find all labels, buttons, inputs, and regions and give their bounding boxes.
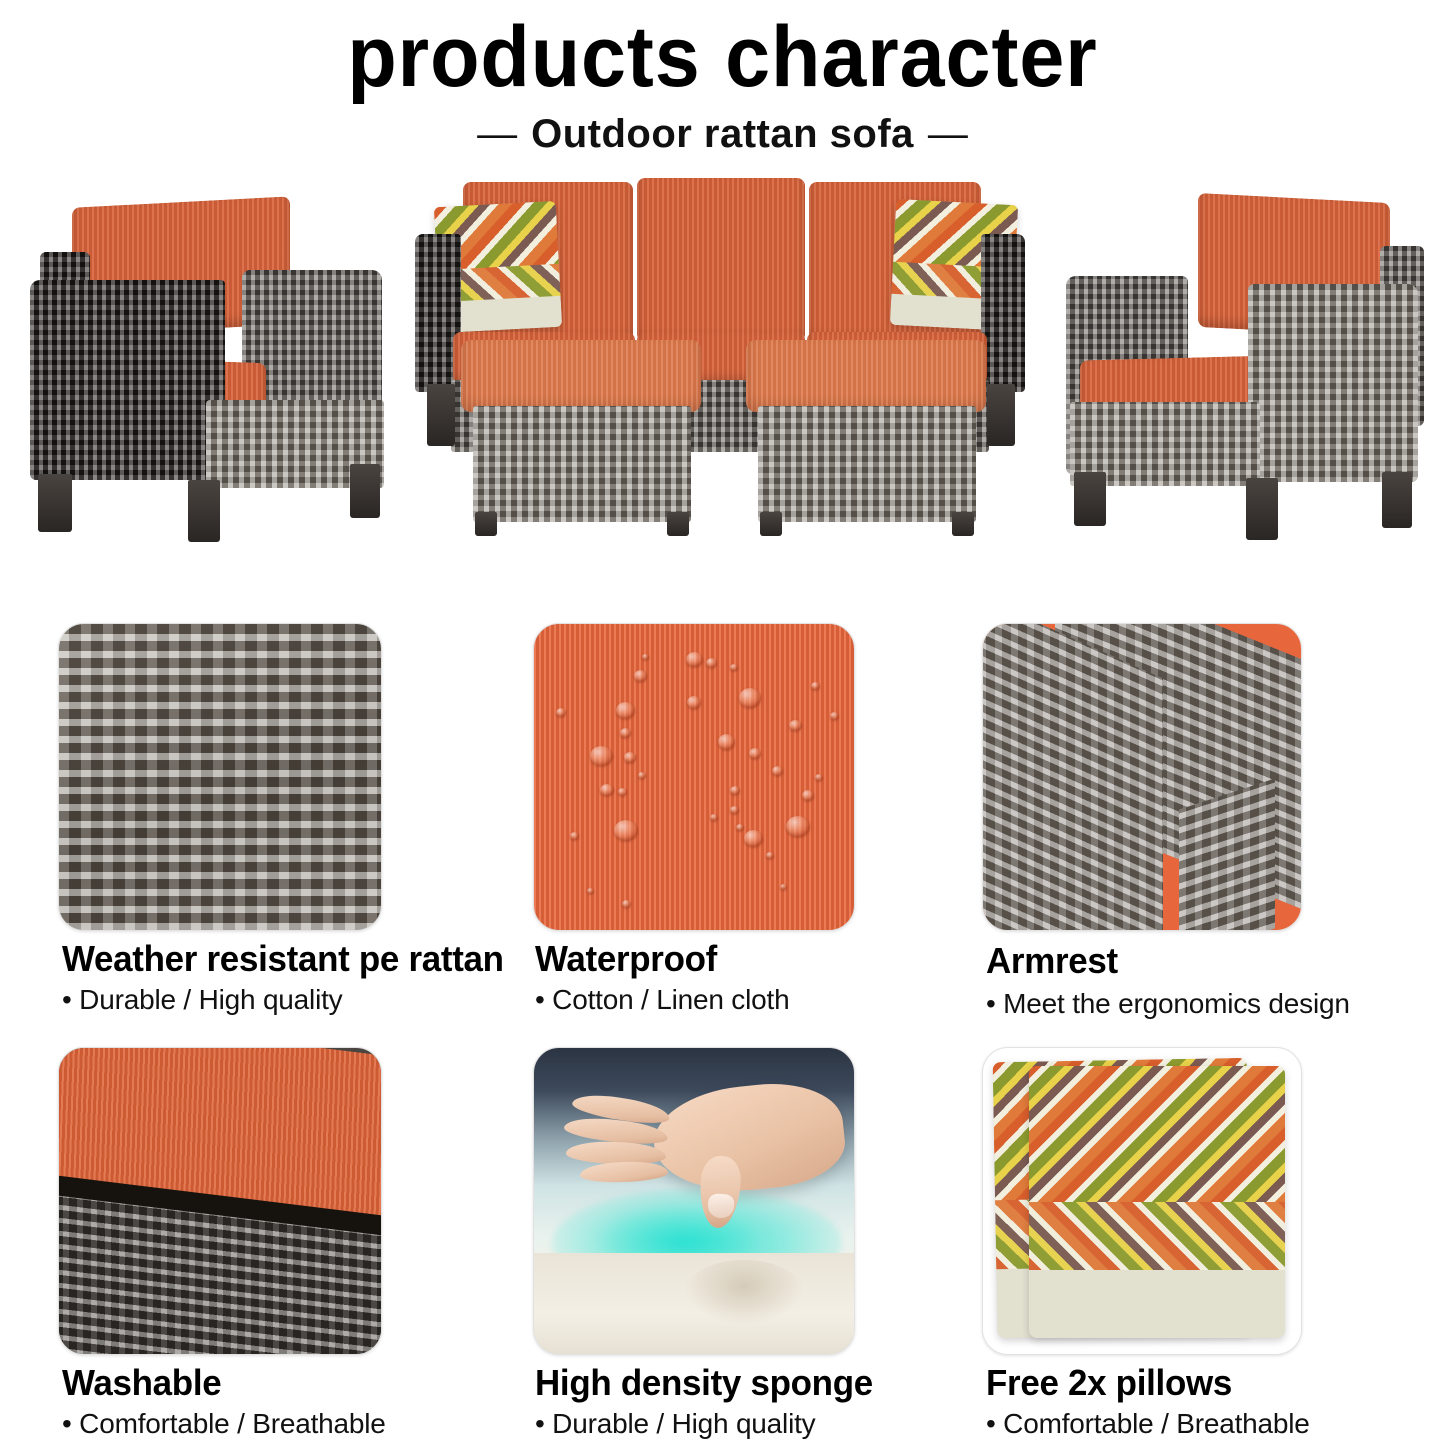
- right-armchair-leg-left: [1074, 472, 1106, 526]
- feature-card-high-density-sponge: High density sponge • Durable / High qua…: [475, 1030, 975, 1445]
- washable-cushion-image: [58, 1047, 382, 1355]
- left-armchair-leg-back: [350, 464, 380, 518]
- ottoman-left-leg-left: [475, 512, 497, 536]
- ottoman-right-base: [758, 406, 976, 522]
- right-armchair-leg-right: [1382, 472, 1412, 528]
- feature-title-washable: Washable: [62, 1362, 221, 1404]
- left-armchair: [20, 192, 410, 552]
- foam-dimple: [684, 1260, 804, 1326]
- water-droplets-group: [534, 624, 854, 930]
- hero-product-image: [0, 172, 1445, 572]
- feature-bullet-armrest: • Meet the ergonomics design: [986, 988, 1350, 1020]
- left-armchair-leg-front: [38, 474, 72, 532]
- right-armchair-right-arm: [1248, 284, 1418, 482]
- chevron-pillows-image: [982, 1047, 1302, 1355]
- ottoman-left: [455, 340, 703, 540]
- feature-bullet-weather-resistant-pe-rattan: • Durable / High quality: [62, 984, 342, 1016]
- product-feature-infographic: productscharacter —Outdoor rattan sofa—: [0, 0, 1445, 1445]
- waterproof-fabric-droplets-image: [533, 623, 855, 931]
- armrest-photo-content: [983, 624, 1301, 930]
- sofa-leg-right: [987, 384, 1015, 446]
- page-title-part2: character: [725, 9, 1097, 105]
- right-armchair-leg-mid: [1246, 478, 1278, 540]
- feature-title-high-density-sponge: High density sponge: [535, 1362, 873, 1404]
- feature-bullet-free-2x-pillows: • Comfortable / Breathable: [986, 1408, 1310, 1440]
- ottoman-right-cushion: [746, 340, 986, 412]
- feature-bullet-washable: • Comfortable / Breathable: [62, 1408, 386, 1440]
- pillow-front: [1029, 1066, 1285, 1338]
- feature-title-free-2x-pillows: Free 2x pillows: [986, 1362, 1232, 1404]
- feature-title-waterproof: Waterproof: [535, 938, 717, 980]
- page-title: productscharacter: [43, 12, 1401, 102]
- ottoman-left-cushion: [461, 340, 701, 412]
- right-armchair: [1040, 190, 1430, 552]
- feature-title-weather-resistant-pe-rattan: Weather resistant pe rattan: [62, 938, 504, 980]
- washable-photo-content: [59, 1048, 381, 1354]
- feature-card-weather-resistant-pe-rattan: Weather resistant pe rattan • Durable / …: [0, 606, 500, 1026]
- subtitle-text: Outdoor rattan sofa: [531, 112, 914, 156]
- left-armchair-leg-mid: [188, 480, 220, 542]
- left-armchair-left-arm: [30, 280, 225, 480]
- armrest-side-surface: [983, 624, 1163, 930]
- hand-pressing-foam-image: [533, 1047, 855, 1355]
- sofa-back-cushion-center: [637, 178, 805, 342]
- pillows-photo-content: [983, 1048, 1301, 1354]
- ottoman-left-leg-right: [667, 512, 689, 536]
- feature-card-free-2x-pillows: Free 2x pillows • Comfortable / Breathab…: [924, 1030, 1445, 1445]
- header: productscharacter —Outdoor rattan sofa—: [0, 0, 1445, 157]
- feature-card-washable: Washable • Comfortable / Breathable: [0, 1030, 500, 1445]
- sofa-leg-left: [427, 384, 455, 446]
- page-subtitle: —Outdoor rattan sofa—: [0, 112, 1445, 157]
- ottoman-right-leg-right: [952, 512, 974, 536]
- armrest-corner-image: [982, 623, 1302, 931]
- ottoman-right: [740, 340, 988, 540]
- ottoman-left-base: [473, 406, 691, 522]
- feature-bullet-waterproof: • Cotton / Linen cloth: [535, 984, 789, 1016]
- feature-bullet-high-density-sponge: • Durable / High quality: [535, 1408, 815, 1440]
- rattan-weave-texture-image: [58, 623, 382, 931]
- sponge-photo-content: [534, 1048, 854, 1354]
- hand-palm: [649, 1076, 849, 1199]
- hand-finger-4: [580, 1160, 669, 1183]
- subtitle-dash-right: —: [928, 112, 968, 156]
- subtitle-dash-left: —: [477, 112, 517, 156]
- feature-card-armrest: Armrest • Meet the ergonomics design: [924, 606, 1445, 1026]
- ottoman-right-leg-left: [760, 512, 782, 536]
- feature-card-waterproof: Waterproof • Cotton / Linen cloth: [475, 606, 975, 1026]
- page-title-part1: products: [347, 9, 700, 105]
- feature-title-armrest: Armrest: [986, 940, 1118, 982]
